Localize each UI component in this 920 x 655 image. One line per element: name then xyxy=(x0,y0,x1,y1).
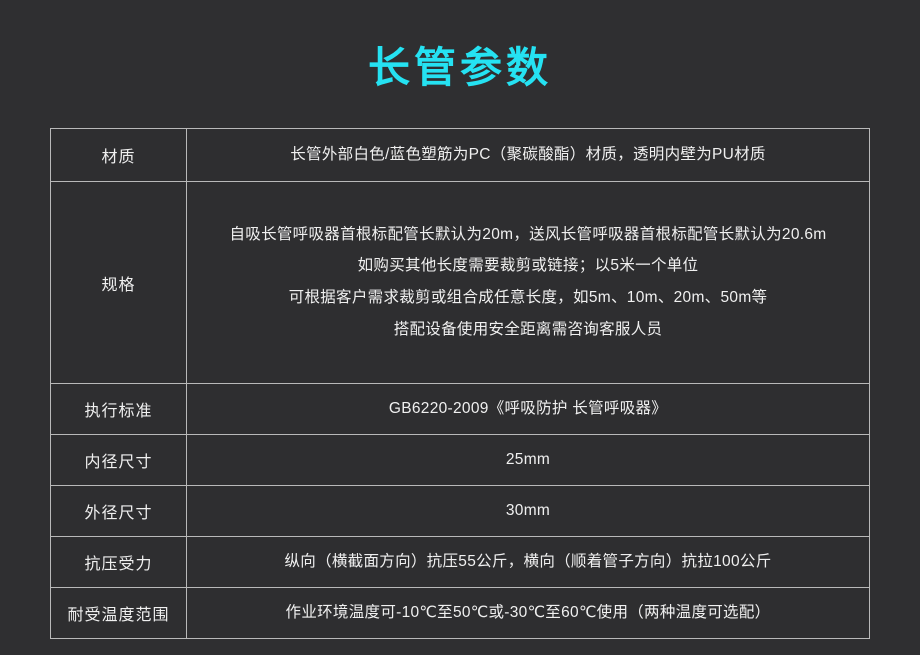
value-line: 纵向（横截面方向）抗压55公斤，横向（顺着管子方向）抗拉100公斤 xyxy=(284,553,771,572)
value-line: 30mm xyxy=(506,502,550,521)
table-row: 材质 长管外部白色/蓝色塑筋为PC（聚碳酸酯）材质，透明内壁为PU材质 xyxy=(51,129,870,182)
table-row: 规格 自吸长管呼吸器首根标配管长默认为20m，送风长管呼吸器首根标配管长默认为2… xyxy=(51,182,870,384)
row-value-outer-diameter: 30mm xyxy=(187,486,870,537)
page-title: 长管参数 xyxy=(0,0,920,99)
value-line: GB6220-2009《呼吸防护 长管呼吸器》 xyxy=(389,400,667,419)
row-label-inner-diameter: 内径尺寸 xyxy=(51,435,187,486)
row-label-outer-diameter: 外径尺寸 xyxy=(51,486,187,537)
row-value-inner-diameter: 25mm xyxy=(187,435,870,486)
value-line: 作业环境温度可-10℃至50℃或-30℃至60℃使用（两种温度可选配） xyxy=(286,604,771,623)
row-label-temperature-range: 耐受温度范围 xyxy=(51,588,187,639)
value-line: 25mm xyxy=(506,451,550,470)
value-lines: 作业环境温度可-10℃至50℃或-30℃至60℃使用（两种温度可选配） xyxy=(187,604,869,623)
value-lines: 自吸长管呼吸器首根标配管长默认为20m，送风长管呼吸器首根标配管长默认为20.6… xyxy=(187,226,869,339)
value-line: 可根据客户需求裁剪或组合成任意长度，如5m、10m、20m、50m等 xyxy=(289,289,768,308)
value-lines: 25mm xyxy=(187,451,869,470)
table-row: 抗压受力 纵向（横截面方向）抗压55公斤，横向（顺着管子方向）抗拉100公斤 xyxy=(51,537,870,588)
table-row: 外径尺寸 30mm xyxy=(51,486,870,537)
value-line: 如购买其他长度需要裁剪或链接；以5米一个单位 xyxy=(358,257,699,276)
row-value-material: 长管外部白色/蓝色塑筋为PC（聚碳酸酯）材质，透明内壁为PU材质 xyxy=(187,129,870,182)
value-line: 搭配设备使用安全距离需咨询客服人员 xyxy=(394,321,663,340)
value-line: 长管外部白色/蓝色塑筋为PC（聚碳酸酯）材质，透明内壁为PU材质 xyxy=(290,146,765,165)
row-value-temperature-range: 作业环境温度可-10℃至50℃或-30℃至60℃使用（两种温度可选配） xyxy=(187,588,870,639)
value-lines: 纵向（横截面方向）抗压55公斤，横向（顺着管子方向）抗拉100公斤 xyxy=(187,553,869,572)
value-line: 自吸长管呼吸器首根标配管长默认为20m，送风长管呼吸器首根标配管长默认为20.6… xyxy=(229,226,826,245)
spec-sheet-page: 长管参数 材质 长管外部白色/蓝色塑筋为PC（聚碳酸酯）材质，透明内壁为PU材质… xyxy=(0,0,920,655)
value-lines: 30mm xyxy=(187,502,869,521)
long-tube-spec-table: 材质 长管外部白色/蓝色塑筋为PC（聚碳酸酯）材质，透明内壁为PU材质 规格 自… xyxy=(50,128,870,639)
table-row: 内径尺寸 25mm xyxy=(51,435,870,486)
row-value-specification: 自吸长管呼吸器首根标配管长默认为20m，送风长管呼吸器首根标配管长默认为20.6… xyxy=(187,182,870,384)
table-row: 耐受温度范围 作业环境温度可-10℃至50℃或-30℃至60℃使用（两种温度可选… xyxy=(51,588,870,639)
value-lines: 长管外部白色/蓝色塑筋为PC（聚碳酸酯）材质，透明内壁为PU材质 xyxy=(187,146,869,165)
row-label-standard: 执行标准 xyxy=(51,384,187,435)
spec-table-container: 材质 长管外部白色/蓝色塑筋为PC（聚碳酸酯）材质，透明内壁为PU材质 规格 自… xyxy=(50,128,870,639)
row-value-standard: GB6220-2009《呼吸防护 长管呼吸器》 xyxy=(187,384,870,435)
value-lines: GB6220-2009《呼吸防护 长管呼吸器》 xyxy=(187,400,869,419)
row-label-material: 材质 xyxy=(51,129,187,182)
row-label-pressure-resistance: 抗压受力 xyxy=(51,537,187,588)
row-value-pressure-resistance: 纵向（横截面方向）抗压55公斤，横向（顺着管子方向）抗拉100公斤 xyxy=(187,537,870,588)
row-label-specification: 规格 xyxy=(51,182,187,384)
table-row: 执行标准 GB6220-2009《呼吸防护 长管呼吸器》 xyxy=(51,384,870,435)
